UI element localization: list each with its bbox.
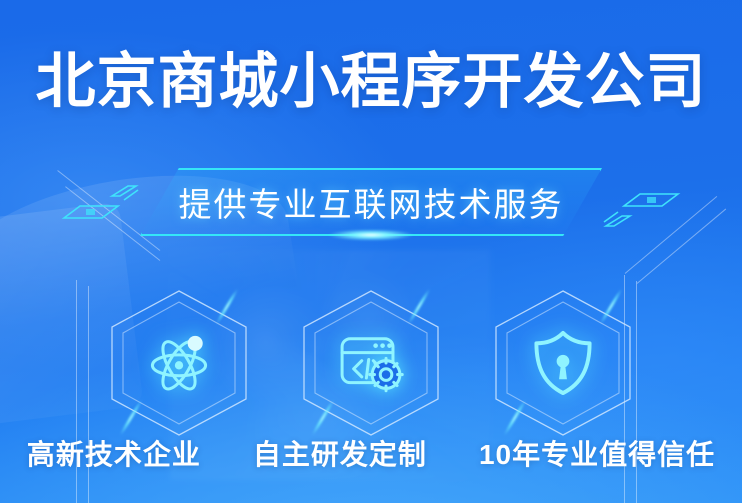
page-title: 北京商城小程序开发公司: [0, 50, 742, 115]
shield-lock-icon: [526, 326, 600, 400]
atom-icon: [142, 326, 216, 400]
subtitle-plate: 提供专业互联网技术服务: [140, 168, 602, 236]
code-window-gear-icon: [334, 326, 408, 400]
subtitle-text: 提供专业互联网技术服务: [140, 168, 602, 236]
feature-label-high-tech: 高新技术企业: [27, 441, 201, 469]
feature-label-custom-dev: 自主研发定制: [253, 441, 427, 469]
promo-banner: 北京商城小程序开发公司: [0, 0, 742, 503]
feature-list: [0, 288, 742, 438]
feature-label-trusted: 10年专业值得信任: [479, 441, 715, 469]
feature-item-custom-dev[interactable]: [297, 288, 445, 438]
subtitle-banner: 提供专业互联网技术服务: [0, 168, 742, 240]
feature-item-high-tech[interactable]: [105, 288, 253, 438]
feature-item-trusted[interactable]: [489, 288, 637, 438]
feature-label-row: 高新技术企业 自主研发定制 10年专业值得信任: [0, 441, 742, 469]
